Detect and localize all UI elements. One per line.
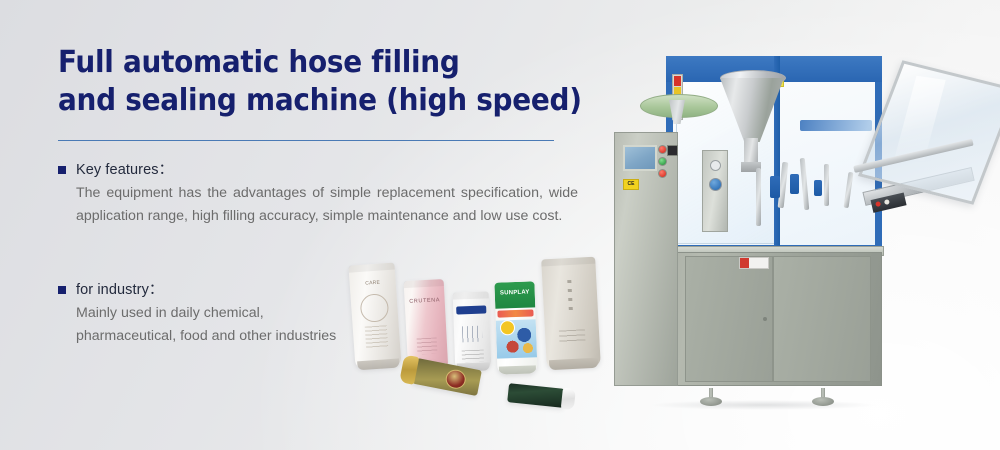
- tube-text-lines: [417, 337, 438, 354]
- cabinet-door-right[interactable]: [773, 256, 871, 382]
- product-tube-pharma: [453, 291, 492, 370]
- blue-actuator: [770, 176, 780, 198]
- cabinet-door-left[interactable]: [685, 256, 773, 382]
- tube-navy-band: [456, 305, 486, 314]
- tube-text-lines: [559, 329, 586, 344]
- title-line-1: Full automatic hose filling: [58, 45, 460, 80]
- start-button[interactable]: [658, 157, 667, 166]
- title-divider: [58, 140, 554, 141]
- section-body-text: Mainly used in daily chemical, pharmaceu…: [58, 302, 358, 348]
- mechanism-arm: [800, 158, 810, 210]
- machine-photo: CE: [614, 38, 994, 406]
- tube-emblem: [444, 368, 467, 390]
- tube-color-stripe: [497, 309, 533, 317]
- mechanism-arm: [824, 164, 829, 206]
- tube-crimp: [541, 257, 595, 267]
- foot-pad: [812, 397, 834, 406]
- stop-button[interactable]: [658, 169, 667, 178]
- mechanism-arm: [844, 172, 854, 208]
- product-tube-white: CARE: [348, 263, 401, 370]
- control-panel-pillar: CE: [614, 132, 678, 386]
- blue-actuator: [814, 180, 822, 196]
- product-tube-sunscreen: SUNPLAY: [494, 281, 537, 374]
- tube-cap: [499, 365, 536, 374]
- hmi-touchscreen[interactable]: [623, 145, 657, 171]
- tube-crimp: [404, 279, 444, 288]
- safety-sticker: [739, 257, 769, 269]
- tube-cap: [357, 358, 400, 370]
- section-heading-label: for industry：: [76, 278, 164, 299]
- cabinet-door-latch[interactable]: [763, 317, 767, 321]
- section-key-features: Key features： The equipment has the adva…: [58, 158, 578, 228]
- tube-cap: [549, 358, 598, 371]
- square-bullet-icon: [58, 166, 66, 174]
- leveling-foot: [812, 388, 834, 406]
- tube-brand-label: CRUTENA: [409, 297, 440, 305]
- tube-motif: [359, 293, 389, 323]
- product-tube-taupe: [541, 257, 601, 370]
- section-heading-row: Key features：: [58, 158, 578, 179]
- tube-crimp: [453, 291, 489, 299]
- tube-text-lines: [462, 350, 484, 363]
- indicator-light-red: [875, 201, 881, 207]
- section-heading-row: for industry：: [58, 278, 358, 299]
- regulator-knob: [709, 178, 722, 191]
- tube-dot-pattern: [567, 280, 573, 314]
- blue-actuator: [790, 174, 799, 194]
- section-heading-label: Key features：: [76, 158, 173, 179]
- pressure-gauge: [710, 160, 721, 171]
- tower-light-red: [674, 76, 681, 86]
- section-for-industry: for industry： Mainly used in daily chemi…: [58, 278, 358, 348]
- machine-floor-shadow: [648, 400, 878, 410]
- tube-text-lines: [365, 325, 388, 348]
- foot-pad: [700, 397, 722, 406]
- page-title: Full automatic hose fillingand sealing m…: [58, 44, 542, 119]
- square-bullet-icon: [58, 286, 66, 294]
- product-banner: Full automatic hose fillingand sealing m…: [0, 0, 1000, 450]
- tube-cap: [399, 354, 419, 384]
- ce-label: CE: [623, 179, 639, 190]
- indicator-light-white: [884, 199, 890, 205]
- product-tubes-group: CARE CRUTENA SUNPLAY: [348, 252, 616, 420]
- mechanism-arm: [756, 168, 761, 226]
- machine-logo-strip: [800, 120, 872, 131]
- product-tube-dark-green: [507, 383, 565, 408]
- tube-crimp: [348, 263, 394, 273]
- text-column: Full automatic hose fillingand sealing m…: [58, 44, 578, 119]
- tube-cap: [561, 388, 576, 410]
- tube-motif: [462, 326, 483, 343]
- tube-brand-label: SUNPLAY: [500, 290, 530, 297]
- title-line-2: and sealing machine (high speed): [58, 82, 542, 120]
- leveling-foot: [700, 388, 722, 406]
- section-body-text: The equipment has the advantages of simp…: [58, 182, 578, 228]
- emergency-stop-button[interactable]: [658, 145, 667, 154]
- tube-brand-label: CARE: [365, 280, 380, 287]
- power-switch[interactable]: [667, 145, 678, 156]
